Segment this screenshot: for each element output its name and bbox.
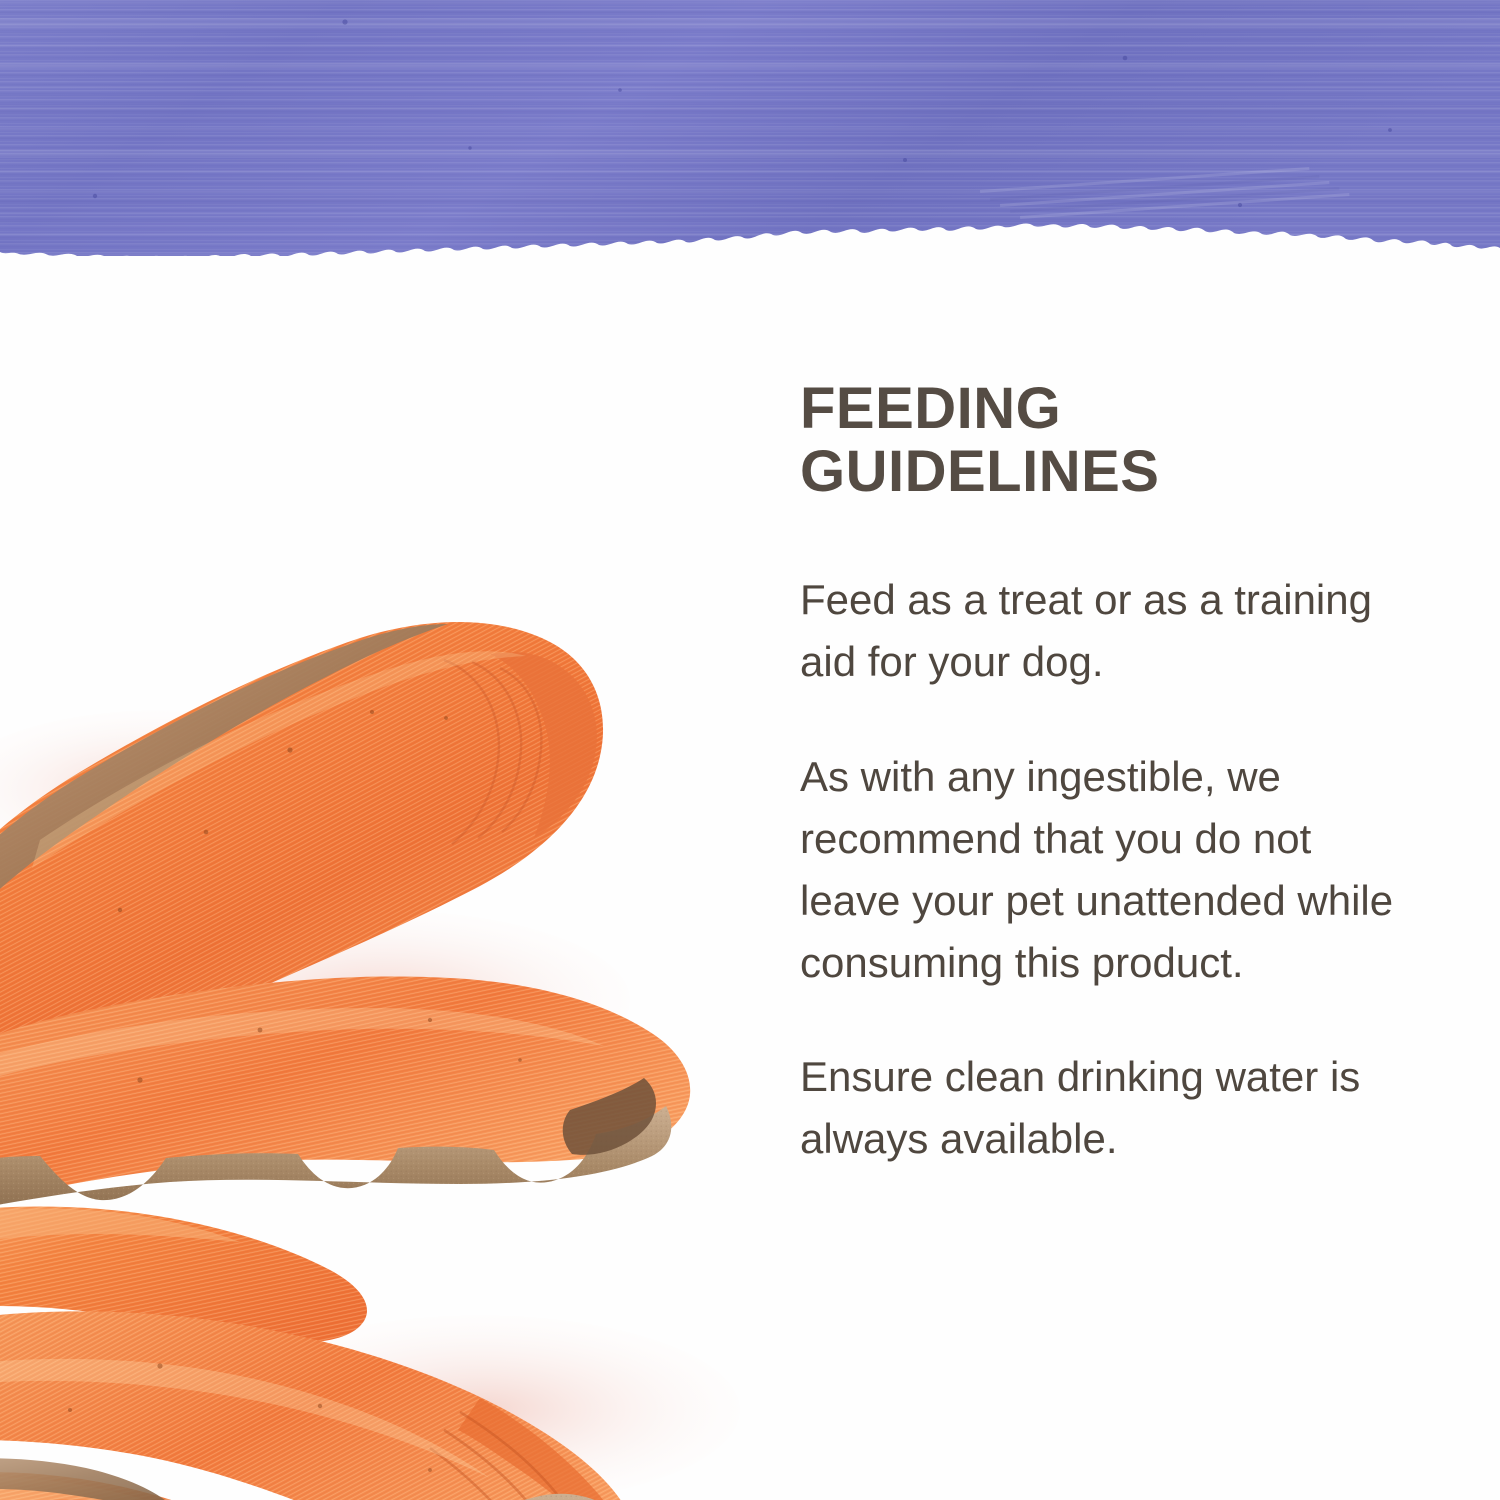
page-title: FEEDING GUIDELINES [800,378,1400,503]
guideline-paragraph-2: As with any ingestible, we recommend tha… [800,746,1400,995]
feeding-guidelines-text-block: FEEDING GUIDELINES Feed as a treat or as… [800,378,1400,1171]
sweet-potato-photo [0,320,780,1500]
guideline-paragraph-3: Ensure clean drinking water is always av… [800,1046,1400,1170]
sweet-potato-slices-illustration [0,320,780,1500]
purple-paint-banner [0,0,1500,256]
paint-stroke-graphic [0,0,1500,256]
guideline-paragraph-1: Feed as a treat or as a training aid for… [800,569,1400,693]
product-info-panel: FEEDING GUIDELINES Feed as a treat or as… [0,0,1500,1500]
